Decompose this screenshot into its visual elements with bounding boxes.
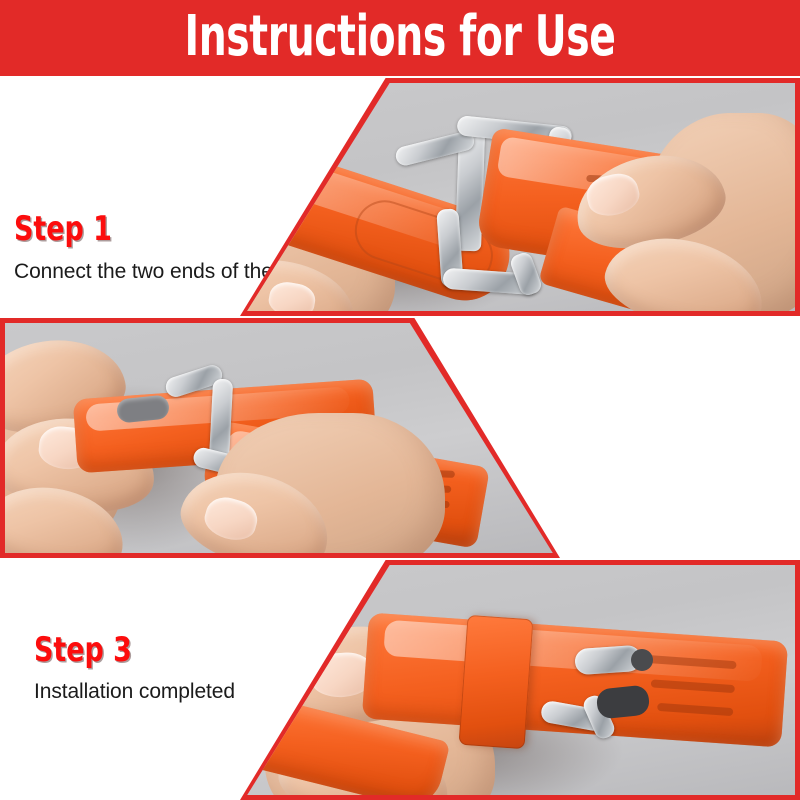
hook-pin — [631, 649, 653, 671]
strap-rib — [644, 655, 737, 669]
keeper-loop — [459, 615, 534, 749]
header-banner: Instructions for Use — [0, 0, 800, 76]
strap-rib — [650, 679, 734, 693]
step-3-label: Step 3 — [34, 630, 132, 670]
step-panel-1: Step 1 Connect the two ends of the rope — [0, 78, 800, 316]
page-title: Instructions for Use — [88, 0, 712, 76]
instructions-page: Instructions for Use Step 1 Connect the … — [0, 0, 800, 800]
step-panel-2: Step 2 Adjust the position of the hole — [0, 318, 800, 558]
step-1-label: Step 1 — [14, 209, 112, 249]
strap-rib — [657, 703, 733, 716]
step-2-text-block: Step 2 Adjust the position of the hole — [440, 318, 800, 558]
step-3-description: Installation completed — [34, 680, 235, 704]
step-panel-3: Step 3 Installation completed — [0, 560, 800, 800]
